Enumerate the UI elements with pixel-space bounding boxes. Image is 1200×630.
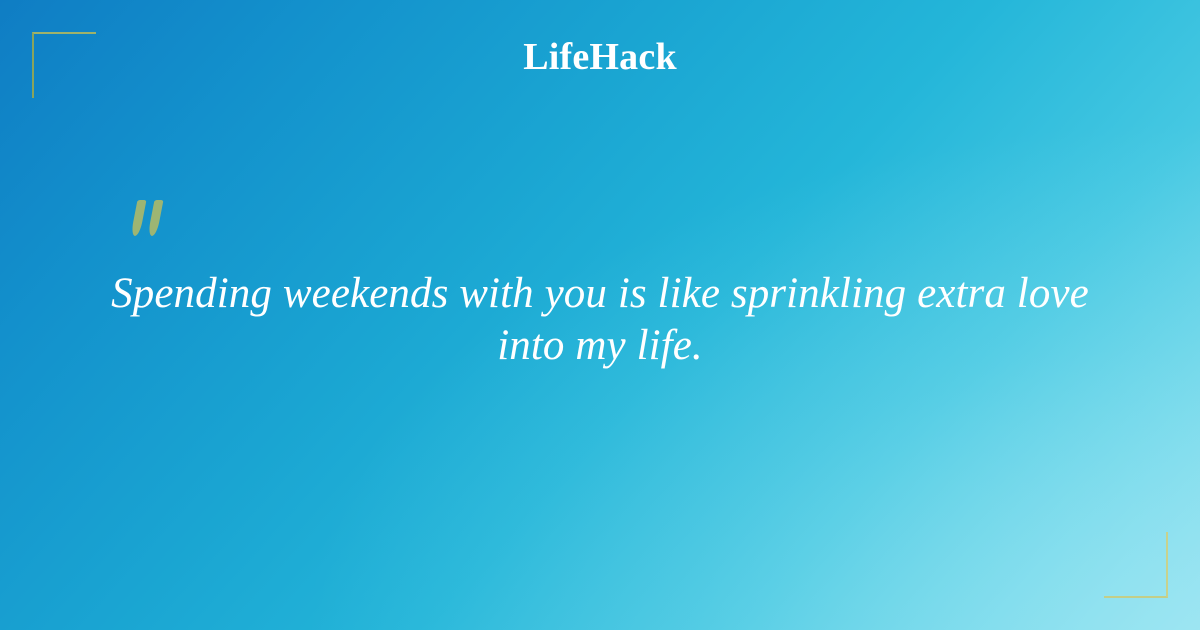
quote-block: Spending weekends with you is like sprin… [100,196,1100,372]
quotation-mark-icon [130,196,176,240]
brand-header: LifeHack [0,38,1200,76]
quote-card: LifeHack Spending weekends with you is l… [0,0,1200,630]
corner-bracket-bottom-right-icon [1104,532,1168,598]
quotation-mark-stroke-right [148,200,164,236]
quote-text: Spending weekends with you is like sprin… [100,268,1100,372]
brand-logo-text: LifeHack [523,38,677,76]
quotation-mark-stroke-left [131,200,147,236]
